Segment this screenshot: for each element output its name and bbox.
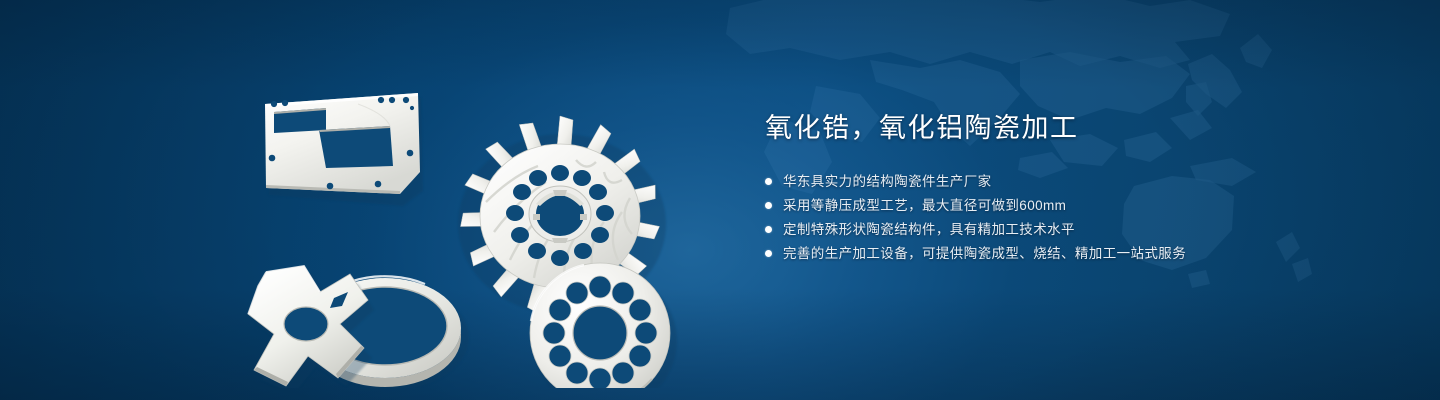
ceramic-products-image — [230, 38, 720, 388]
ceramic-cross-lobe-plate — [248, 266, 374, 388]
page-title: 氧化锆，氧化铝陶瓷加工 — [765, 108, 1385, 148]
bullet-dot-icon — [765, 250, 772, 257]
feature-text: 完善的生产加工设备，可提供陶瓷成型、烧结、精加工一站式服务 — [783, 242, 1186, 265]
list-item: 定制特殊形状陶瓷结构件，具有精加工技术水平 — [765, 218, 1385, 241]
feature-text: 采用等静压成型工艺，最大直径可做到600mm — [783, 194, 1066, 217]
feature-text: 华东具实力的结构陶瓷件生产厂家 — [783, 170, 992, 193]
ceramic-machined-plate — [265, 93, 423, 206]
list-item: 华东具实力的结构陶瓷件生产厂家 — [765, 170, 1385, 193]
feature-list: 华东具实力的结构陶瓷件生产厂家 采用等静压成型工艺，最大直径可做到600mm 定… — [765, 170, 1385, 265]
product-banner: 氧化锆，氧化铝陶瓷加工 华东具实力的结构陶瓷件生产厂家 采用等静压成型工艺，最大… — [0, 0, 1440, 400]
list-item: 采用等静压成型工艺，最大直径可做到600mm — [765, 194, 1385, 217]
bullet-dot-icon — [765, 226, 772, 233]
list-item: 完善的生产加工设备，可提供陶瓷成型、烧结、精加工一站式服务 — [765, 242, 1385, 265]
bullet-dot-icon — [765, 202, 772, 209]
bullet-dot-icon — [765, 178, 772, 185]
feature-text: 定制特殊形状陶瓷结构件，具有精加工技术水平 — [783, 218, 1075, 241]
copy-block: 氧化锆，氧化铝陶瓷加工 华东具实力的结构陶瓷件生产厂家 采用等静压成型工艺，最大… — [765, 108, 1385, 266]
ceramic-perforated-disc — [530, 263, 677, 388]
